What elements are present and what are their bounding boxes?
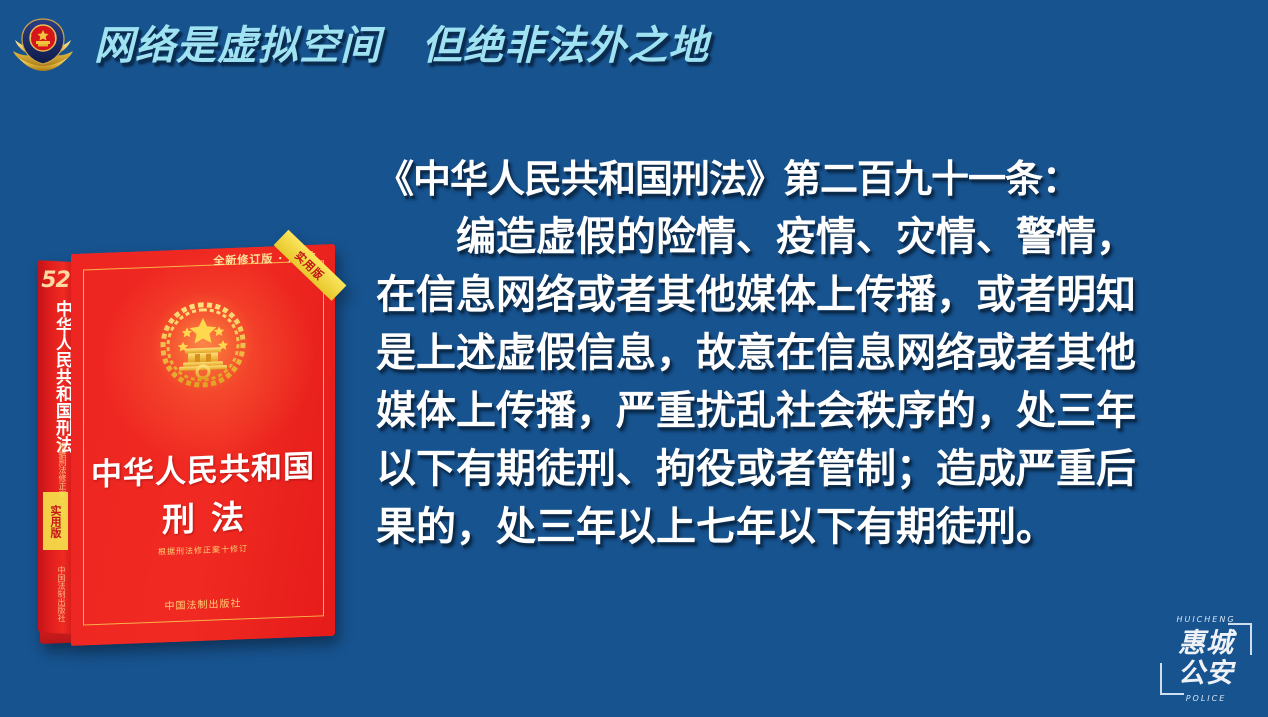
- header-bar: 网络是虚拟空间 但绝非法外之地: [0, 0, 1268, 92]
- watermark-logo: HUICHENG 惠城 公安 POLICE: [1154, 609, 1258, 709]
- article-line-3: 是上述虚假信息，故意在信息网络或者其他: [376, 324, 1236, 382]
- book-cover: 全新修订版 · 刑 法 实用版: [71, 244, 335, 646]
- article-text-block: 《中华人民共和国刑法》第二百九十一条： 编造虚假的险情、疫情、灾情、警情， 在信…: [376, 150, 1236, 556]
- book-spine-tag: 实用版: [43, 492, 68, 550]
- article-line-2: 在信息网络或者其他媒体上传播，或者明知: [376, 266, 1236, 324]
- police-badge-icon: [10, 15, 76, 77]
- book-spine-number: 52: [40, 268, 71, 293]
- slide-root: 网络是虚拟空间 但绝非法外之地 52 中华人民共和国刑法 根据刑法修正案十修订 …: [0, 0, 1268, 717]
- national-emblem-icon: [149, 291, 257, 403]
- article-line-6: 果的，处三年以上七年以下有期徒刑。: [376, 498, 1236, 556]
- header-title: 网络是虚拟空间 但绝非法外之地: [94, 26, 709, 66]
- article-line-4: 媒体上传播，严重扰乱社会秩序的，处三年: [376, 382, 1236, 440]
- watermark-main-line2: 公安: [1166, 659, 1246, 689]
- article-line-1: 编造虚假的险情、疫情、灾情、警情，: [376, 208, 1236, 266]
- law-book-image: 52 中华人民共和国刑法 根据刑法修正案十修订 实用版 中国法制出版社 全新修订…: [38, 254, 338, 640]
- book-cover-title-line2: 刑法: [71, 487, 335, 545]
- watermark-bottom-text: POLICE: [1154, 694, 1258, 703]
- book-spine-publisher: 中国法制出版社: [47, 566, 65, 622]
- article-title: 《中华人民共和国刑法》第二百九十一条：: [376, 150, 1236, 208]
- watermark-main-text: 惠城 公安: [1166, 629, 1246, 689]
- watermark-top-text: HUICHENG: [1154, 615, 1258, 624]
- book-spine-title: 中华人民共和国刑法: [41, 300, 70, 453]
- watermark-main-line1: 惠城: [1166, 629, 1246, 659]
- article-line-5: 以下有期徒刑、拘役或者管制；造成严重后: [376, 440, 1236, 498]
